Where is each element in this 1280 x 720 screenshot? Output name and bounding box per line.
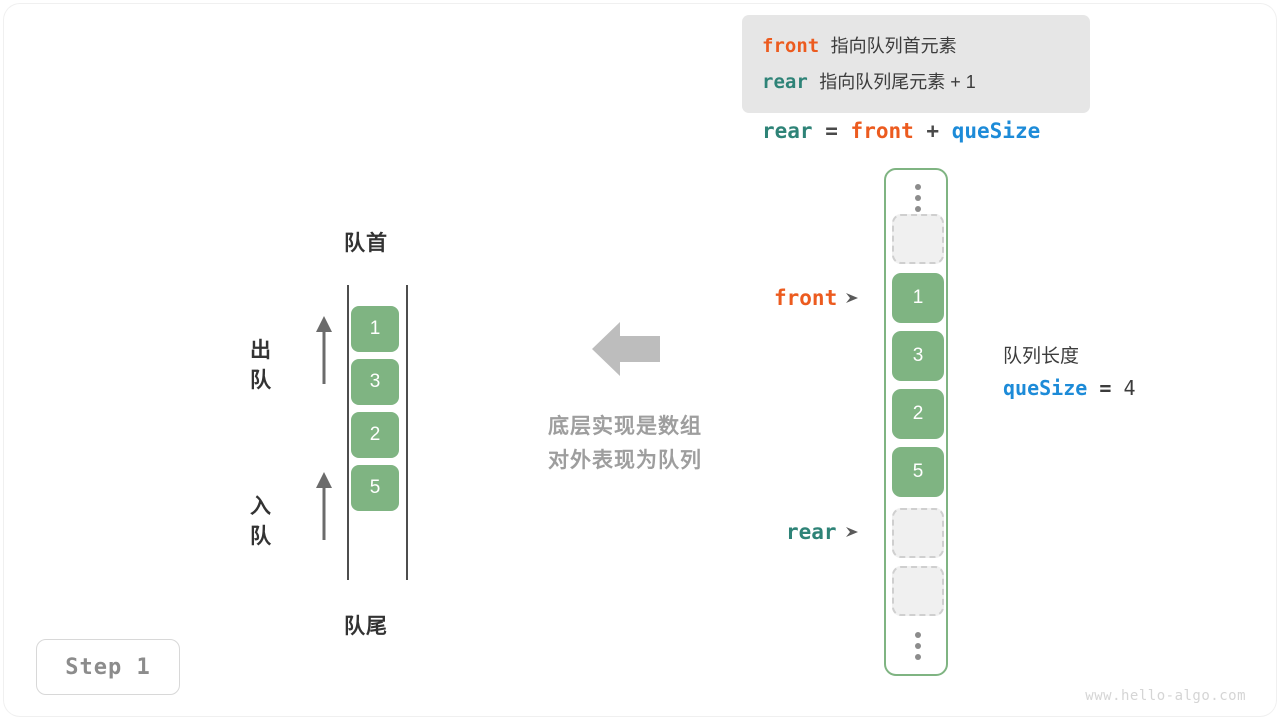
quesize-value: 4: [1123, 376, 1135, 400]
rear-definition-line: rear 指向队列尾元素 + 1: [762, 64, 1090, 100]
implementation-note-line1: 底层实现是数组: [527, 410, 723, 444]
formula-plus: +: [926, 119, 939, 143]
vertical-ellipsis-icon: [886, 184, 950, 212]
queue-cell: 2: [351, 412, 399, 458]
array-slot-filled: 2: [892, 389, 944, 439]
formula-rear: rear: [762, 119, 813, 143]
pointer-arrowhead-icon: [845, 525, 859, 539]
array-slot-filled: 5: [892, 447, 944, 497]
figure-canvas: front 指向队列首元素 rear 指向队列尾元素 + 1 rear = fr…: [0, 0, 1280, 720]
queue-tail-label: 队尾: [344, 610, 388, 640]
vertical-ellipsis-icon: [886, 632, 950, 660]
rear-pointer-label: rear: [786, 520, 837, 544]
pointer-definition-box: front 指向队列首元素 rear 指向队列尾元素 + 1: [742, 15, 1090, 113]
queue-size-expression: queSize = 4: [1003, 372, 1135, 405]
queue-cell: 5: [351, 465, 399, 511]
formula-equals: =: [825, 119, 838, 143]
front-pointer: front: [774, 286, 859, 310]
enqueue-label: 入队: [250, 490, 272, 550]
pointer-arrowhead-icon: [845, 291, 859, 305]
front-pointer-label: front: [774, 286, 837, 310]
queue-cell: 3: [351, 359, 399, 405]
left-arrow-icon: [592, 320, 660, 378]
array-slot-filled: 3: [892, 331, 944, 381]
queue-size-caption: 队列长度: [1003, 341, 1135, 372]
queue-cell: 1: [351, 306, 399, 352]
array-slot-empty: [892, 214, 944, 264]
queue-rail-left: [347, 285, 349, 580]
watermark: www.hello-algo.com: [1085, 688, 1246, 704]
front-definition-line: front 指向队列首元素: [762, 28, 1090, 64]
array-container: 1 3 2 5: [884, 168, 948, 676]
array-slot-filled: 1: [892, 273, 944, 323]
enqueue-up-arrow-icon: [312, 470, 336, 542]
dequeue-up-arrow-icon: [312, 314, 336, 386]
implementation-note-line2: 对外表现为队列: [527, 444, 723, 478]
formula-front: front: [851, 119, 914, 143]
front-definition-text: 指向队列首元素: [831, 36, 957, 56]
step-badge: Step 1: [36, 639, 180, 695]
quesize-equals: =: [1099, 376, 1111, 400]
queue-size-note: 队列长度 queSize = 4: [1003, 341, 1135, 405]
front-keyword: front: [762, 35, 819, 57]
rear-formula: rear = front + queSize: [762, 119, 1040, 143]
array-slot-empty: [892, 566, 944, 616]
rear-definition-text: 指向队列尾元素 + 1: [819, 72, 976, 92]
array-slot-empty: [892, 508, 944, 558]
dequeue-label: 出队: [250, 334, 272, 394]
quesize-name: queSize: [1003, 376, 1087, 400]
queue-head-label: 队首: [344, 227, 388, 257]
queue-rail-right: [406, 285, 408, 580]
rear-keyword: rear: [762, 71, 808, 93]
rear-pointer: rear: [786, 520, 859, 544]
formula-quesize: queSize: [952, 119, 1041, 143]
implementation-note: 底层实现是数组 对外表现为队列: [527, 410, 723, 478]
